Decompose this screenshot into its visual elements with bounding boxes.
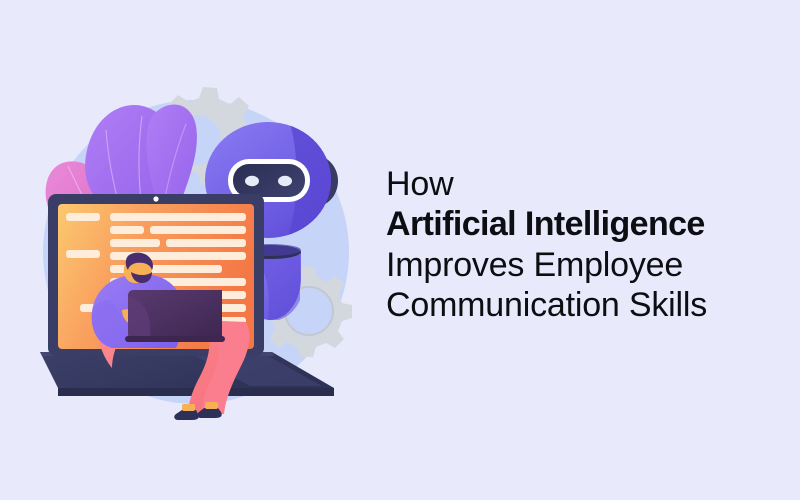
page-title: How Artificial Intelligence Improves Emp… (386, 164, 786, 326)
headline-line-4: Communication Skills (386, 285, 786, 325)
headline-line-2: Artificial Intelligence (386, 204, 786, 244)
person-laptop (125, 290, 225, 342)
headline-line-3: Improves Employee (386, 245, 786, 285)
robot-eye-left (245, 176, 259, 186)
robot-eye-right (278, 176, 292, 186)
headline-line-1: How (386, 164, 786, 204)
banner: How Artificial Intelligence Improves Emp… (0, 0, 800, 500)
illustration-svg (0, 0, 380, 500)
webcam-dot (153, 196, 158, 201)
ai-employee-communication-illustration (0, 0, 380, 500)
person-head (124, 253, 153, 284)
